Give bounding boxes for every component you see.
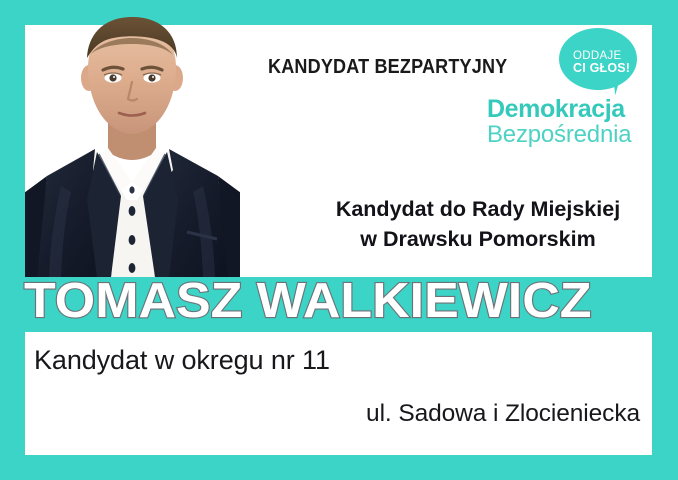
streets-line: ul. Sadowa i Zlocieniecka <box>0 400 640 428</box>
logo-line-bezposrednia: Bezpośrednia <box>487 122 639 148</box>
logo-line-demokracja: Demokracja <box>487 96 639 122</box>
portrait-illustration <box>25 0 240 277</box>
candidate-photo <box>25 0 240 277</box>
subtitle-line-2: w Drawsku Pomorskim <box>308 225 648 255</box>
demokracja-bezposrednia-logo: ODDAJE CI GŁOS! Demokracja Bezpośrednia <box>487 28 637 153</box>
bubble-line-2: CI GŁOS! <box>573 62 637 75</box>
logo-wordmark: Demokracja Bezpośrednia <box>487 96 639 149</box>
speech-bubble-text: ODDAJE CI GŁOS! <box>573 50 637 75</box>
subtitle-line-1: Kandydat do Rady Miejskiej <box>308 195 648 225</box>
office-subtitle: Kandydat do Rady Miejskiej w Drawsku Pom… <box>308 195 648 254</box>
district-line: Kandydat w okregu nr 11 <box>34 345 330 376</box>
campaign-poster: KANDYDAT BEZPARTYJNY ODDAJE CI GŁOS! Dem… <box>0 0 678 480</box>
candidate-name: TOMASZ WALKIEWICZ <box>24 276 678 328</box>
